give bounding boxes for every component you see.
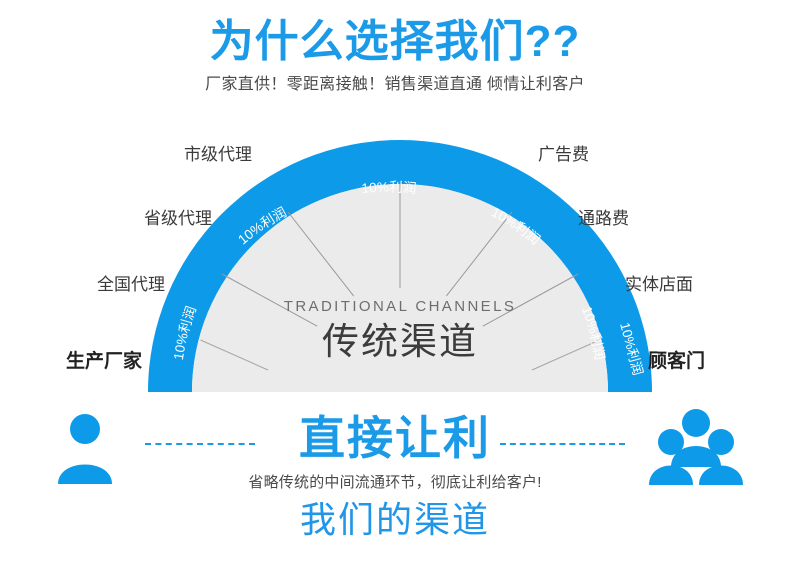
center-caption-en: TRADITIONAL CHANNELS [245,299,555,314]
chain-label-left-2: 全国代理 [0,276,165,293]
chain-label-left-3-producer: 生产厂家 [0,352,142,371]
page-title: 为什么选择我们?? [0,0,790,66]
benefit-title: 直接让利 [0,400,790,461]
center-caption-cn: 传统渠道 [245,323,555,360]
our-channel-title: 我们的渠道 [0,490,790,538]
header: 为什么选择我们?? 厂家直供！零距离接触！销售渠道直通 倾情让利客户 [0,0,790,94]
chain-label-right-0: 广告费 [538,146,790,163]
chain-label-right-2: 实体店面 [625,276,790,293]
chain-label-right-3-customer: 顾客门 [648,352,790,371]
chain-label-left-0: 市级代理 [0,146,252,163]
bottom-text-block: 直接让利 省略传统的中间流通环节，彻底让利给客户! 我们的渠道 [0,400,790,538]
chain-label-right-1: 通路费 [578,210,790,227]
page-subtitle: 厂家直供！零距离接触！销售渠道直通 倾情让利客户 [0,66,790,94]
center-caption: TRADITIONAL CHANNELS 传统渠道 [245,299,555,360]
traditional-channel-diagram: 10%利润 10%利润 10%利润 10%利润 10%利润 10%利润 TRAD… [0,118,790,408]
chain-label-left-1: 省级代理 [0,210,212,227]
benefit-subtitle: 省略传统的中间流通环节，彻底让利给客户! [0,461,790,490]
